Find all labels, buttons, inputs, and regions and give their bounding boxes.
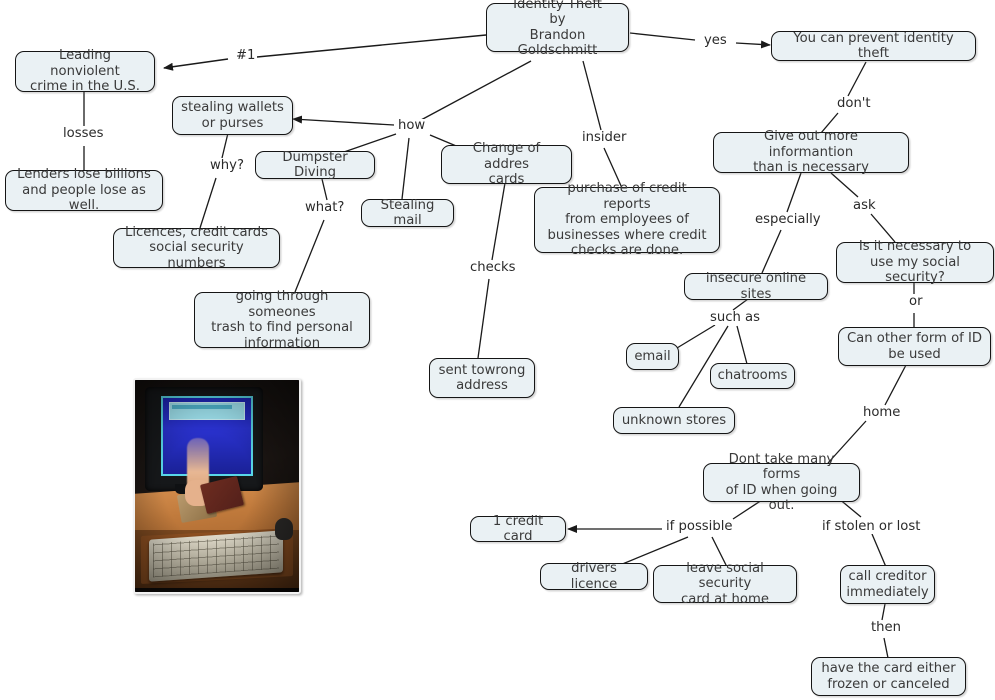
node-dont-take-many-forms[interactable]: Dont take many forms of ID when going ou… — [703, 463, 860, 502]
edge-giveout-to-ask — [831, 173, 858, 197]
node-lenders-lose[interactable]: Lenders lose billions and people lose as… — [5, 170, 163, 211]
node-sent-to-wrong-address[interactable]: sent towrong address — [429, 358, 535, 398]
link-label-if-possible: if possible — [664, 520, 735, 534]
link-label-checks: checks — [468, 261, 517, 275]
concept-map-canvas: Identity Theft by Brandon Goldschmitt Le… — [0, 0, 995, 700]
link-label-then: then — [869, 621, 903, 635]
edge-suchas-to-email — [677, 325, 715, 348]
edge-prevent-to-dont — [848, 62, 866, 96]
node-have-card-frozen[interactable]: have the card either frozen or canceled — [811, 657, 966, 696]
node-insecure-online-sites[interactable]: insecure online sites — [684, 273, 828, 300]
node-call-creditor[interactable]: call creditor immediately — [840, 565, 935, 604]
node-unknown-stores[interactable]: unknown stores — [613, 407, 735, 434]
edge-root-to-how — [421, 61, 531, 120]
link-label-yes: yes — [702, 34, 729, 48]
link-label-dont: don't — [835, 97, 873, 111]
link-label-hash-one: #1 — [234, 49, 257, 63]
edge-ask-to-isitnecessary — [871, 214, 895, 242]
node-give-out-more-information[interactable]: Give out more informantion than is neces… — [713, 132, 909, 173]
node-prevent-identity-theft[interactable]: You can prevent identity theft — [771, 31, 976, 61]
node-one-credit-card[interactable]: 1 credit card — [470, 516, 566, 542]
link-label-or: or — [907, 295, 925, 309]
node-is-it-necessary[interactable]: Is it necessary to use my social securit… — [836, 242, 994, 283]
node-change-of-address[interactable]: Change of addres cards — [441, 145, 572, 184]
link-label-how: how — [396, 119, 427, 133]
node-dumpster-diving[interactable]: Dumpster Diving — [255, 151, 375, 179]
node-going-through-trash[interactable]: going through someones trash to find per… — [194, 292, 370, 348]
edge-checks-to-sentwrong — [478, 279, 489, 358]
edge-root-to-leading-crime — [257, 35, 486, 57]
node-drivers-licence[interactable]: drivers licence — [540, 563, 648, 590]
node-other-form-of-id[interactable]: Can other form of ID be used — [838, 327, 991, 366]
link-label-ask: ask — [851, 199, 878, 213]
edge-otherformid-to-home — [885, 365, 906, 405]
edge-what-to-trash — [295, 220, 324, 292]
node-email[interactable]: email — [626, 343, 679, 370]
link-label-insider: insider — [580, 131, 628, 145]
edge-suchas-to-chatrooms — [737, 326, 747, 364]
edge-then-to-havecard — [884, 638, 888, 658]
edge-root-to-yes — [630, 33, 695, 40]
photo-vignette — [135, 380, 299, 592]
link-label-why: why? — [208, 159, 246, 173]
link-label-what: what? — [303, 201, 346, 215]
node-licences[interactable]: Licences, credit cards social security n… — [113, 228, 280, 268]
edge-ifstolen-to-callcreditor — [872, 534, 886, 567]
edge-callcreditor-to-then — [882, 604, 885, 620]
edge-how-to-stealing-wallets — [293, 119, 394, 125]
link-label-especially: especially — [753, 213, 823, 227]
identity-theft-photo — [133, 378, 301, 594]
edge-changeaddress-to-checks — [492, 183, 505, 260]
node-purchase-credit-reports[interactable]: purchase of credit reports from employee… — [534, 187, 720, 253]
node-chatrooms[interactable]: chatrooms — [710, 363, 795, 389]
link-label-such-as: such as — [708, 311, 762, 325]
edge-stealingwallets-to-why — [222, 133, 228, 158]
edge-how-to-stealing-mail — [402, 138, 409, 199]
edge-giveout-to-especially — [787, 173, 801, 212]
edge-root-to-insider — [583, 61, 601, 130]
node-stealing-wallets[interactable]: stealing wallets or purses — [172, 96, 293, 135]
edge-especially-to-insecure — [762, 230, 781, 273]
edge-hash1-to-leading-crime — [164, 59, 228, 68]
edge-dumpster-to-what — [322, 179, 327, 200]
node-stealing-mail[interactable]: Stealing mail — [361, 199, 454, 227]
edge-why-to-licences — [200, 178, 216, 228]
node-leading-crime[interactable]: Leading nonviolent crime in the U.S. — [15, 51, 155, 92]
link-label-home: home — [861, 406, 902, 420]
node-root[interactable]: Identity Theft by Brandon Goldschmitt — [486, 3, 629, 52]
node-leave-ssn-at-home[interactable]: leave social security card at home — [653, 565, 797, 603]
edge-yes-to-prevent — [736, 43, 770, 45]
link-label-losses: losses — [61, 127, 105, 141]
link-label-if-stolen-or-lost: if stolen or lost — [820, 520, 922, 534]
